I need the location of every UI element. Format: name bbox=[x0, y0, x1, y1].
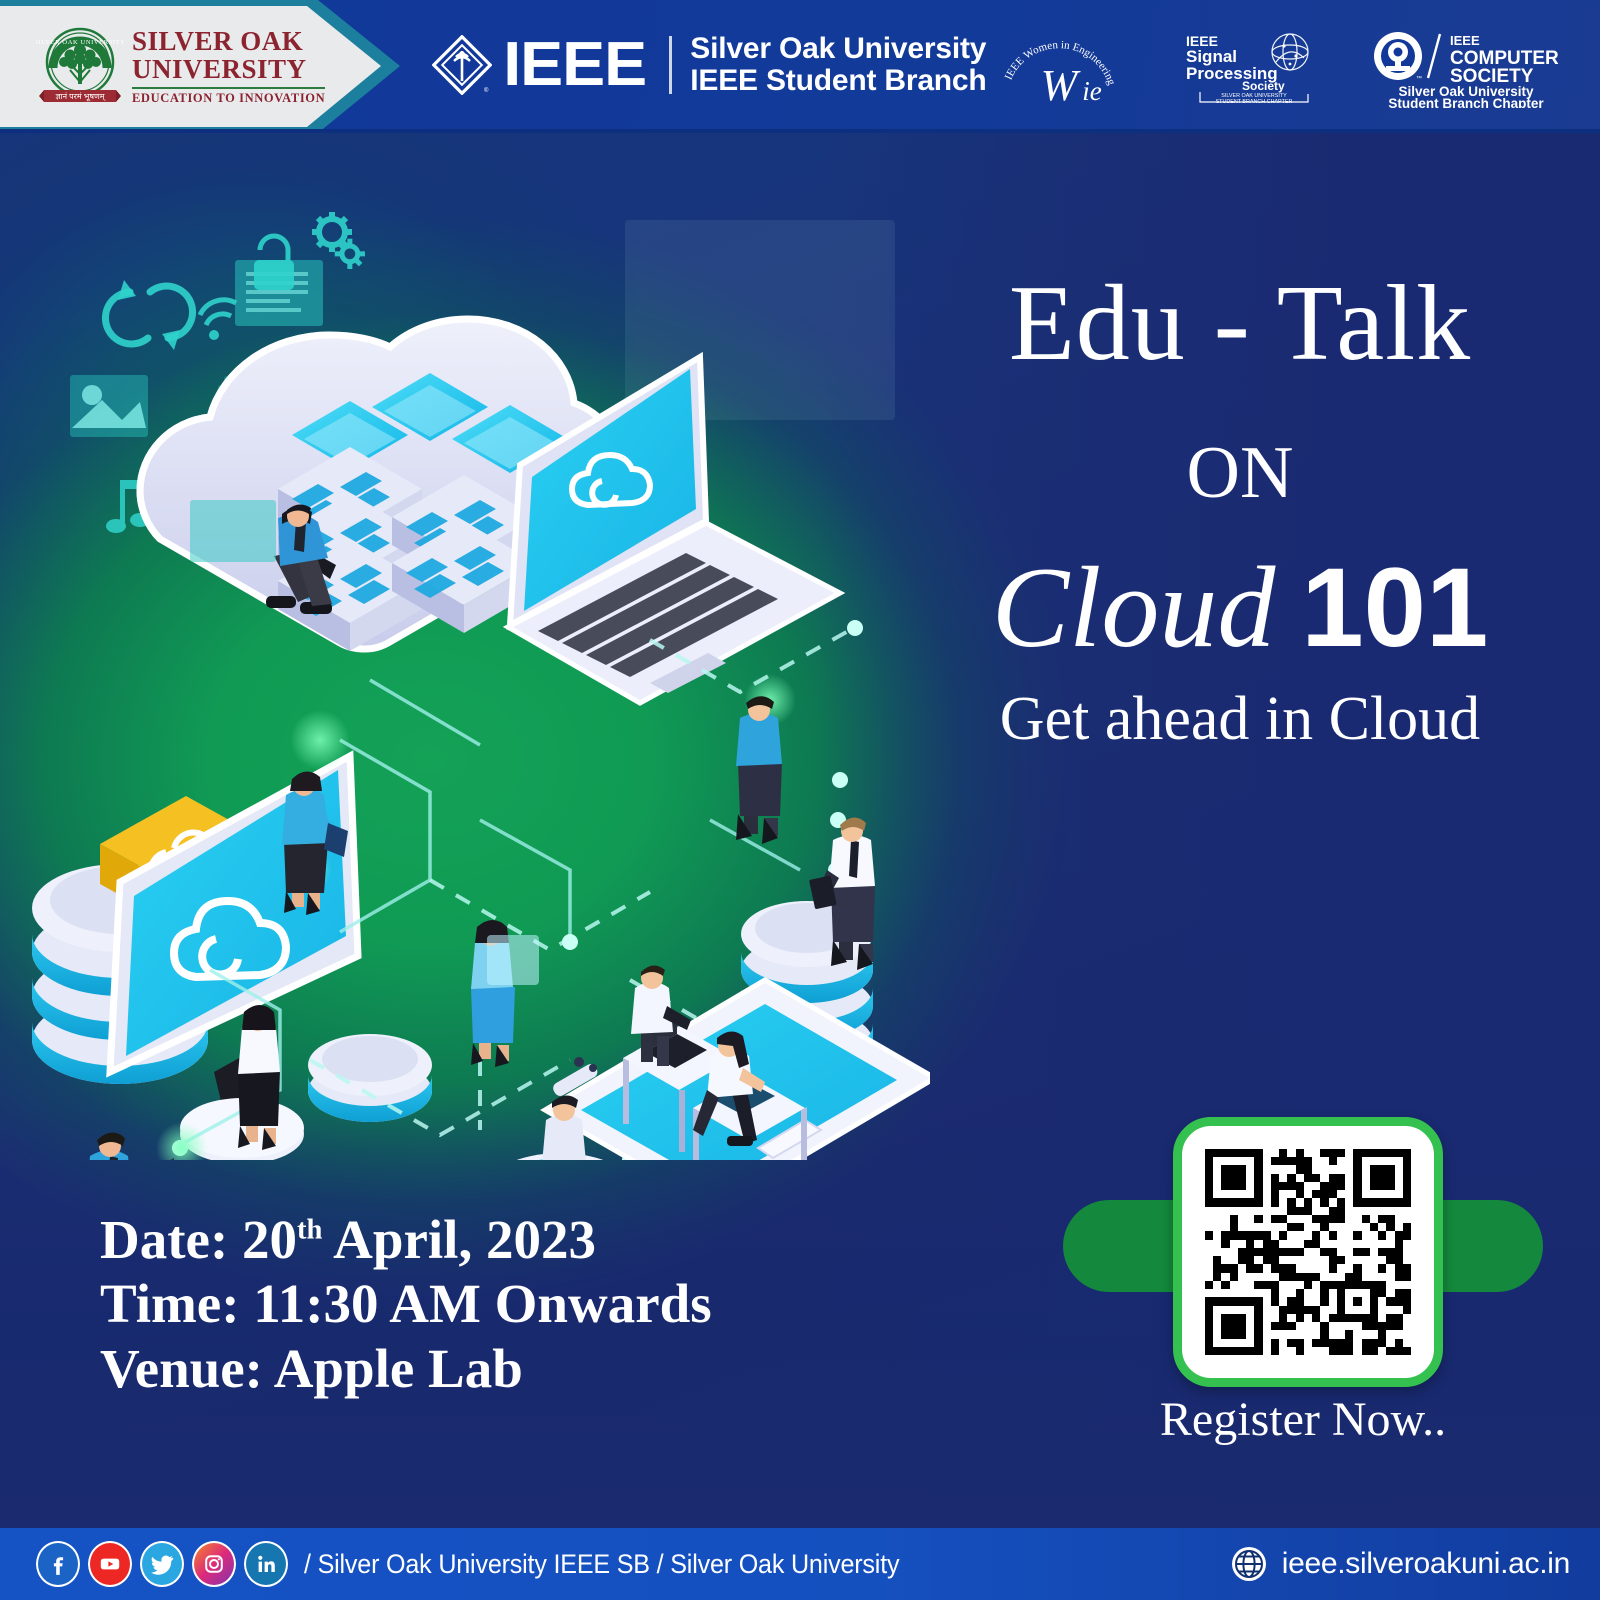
cloud-computing-isometric-illustration bbox=[10, 180, 930, 1160]
svg-text:®: ® bbox=[484, 87, 489, 94]
registration-qr-code[interactable] bbox=[1173, 1117, 1443, 1387]
social-handles: / Silver Oak University IEEE SB / Silver… bbox=[304, 1549, 899, 1580]
poster-header: SILVER OAK UNIVERSITY ज्ञानं परमं भूषणम् bbox=[0, 0, 1600, 133]
header-bottom-rule bbox=[0, 129, 1600, 133]
event-time: Time: 11:30 AM Onwards bbox=[100, 1272, 860, 1336]
university-name-line2: UNIVERSITY bbox=[132, 56, 325, 83]
facebook-icon[interactable] bbox=[36, 1541, 80, 1587]
wie-monogram: W bbox=[1041, 61, 1081, 108]
youtube-icon[interactable] bbox=[88, 1541, 132, 1587]
event-title-block: Edu - Talk ON Cloud 101 Get ahead in Clo… bbox=[910, 270, 1570, 750]
ieee-computer-society-logo: ™ IEEE COMPUTER SOCIETY Silver Oak Unive… bbox=[1366, 28, 1566, 108]
silver-oak-tree-emblem-icon: SILVER OAK UNIVERSITY ज्ञानं परमं भूषणम् bbox=[36, 24, 124, 108]
svg-text:™: ™ bbox=[1416, 75, 1422, 82]
svg-text:ie: ie bbox=[1082, 76, 1102, 106]
instagram-icon[interactable] bbox=[192, 1541, 236, 1587]
date-rest: April, 2023 bbox=[333, 1209, 596, 1270]
poster-footer: / Silver Oak University IEEE SB / Silver… bbox=[0, 1528, 1600, 1600]
ieee-women-in-engineering-logo: IEEE Women in Engineering W ie bbox=[1000, 28, 1118, 108]
register-now-label: Register Now.. bbox=[1063, 1392, 1543, 1447]
website-url: ieee.silveroakuni.ac.in bbox=[1282, 1547, 1570, 1581]
ieee-diamond-icon: ® bbox=[432, 35, 492, 95]
ieee-signal-processing-society-logo: IEEE Signal Processing Society SILVER OA… bbox=[1180, 30, 1320, 106]
cs-line1: IEEE bbox=[1450, 33, 1480, 48]
website-block[interactable]: ieee.silveroakuni.ac.in bbox=[1230, 1545, 1570, 1583]
branch-line2: IEEE Student Branch bbox=[690, 65, 986, 97]
cs-chapter-line2: Student Branch Chapter bbox=[1388, 96, 1544, 108]
university-name-line1: SILVER OAK bbox=[132, 28, 325, 55]
social-links bbox=[36, 1541, 288, 1587]
event-poster: SILVER OAK UNIVERSITY ज्ञानं परमं भूषणम् bbox=[0, 0, 1600, 1600]
header-divider bbox=[669, 36, 672, 94]
ieee-student-branch-logo: ® IEEE Silver Oak University IEEE Studen… bbox=[432, 33, 987, 98]
logo-divider bbox=[132, 87, 325, 89]
event-topic-number: 101 bbox=[1301, 553, 1488, 663]
branch-line1: Silver Oak University bbox=[690, 33, 986, 65]
silver-oak-university-logo: SILVER OAK UNIVERSITY ज्ञानं परमं भूषणम् bbox=[36, 24, 325, 108]
date-day: 20 bbox=[242, 1209, 297, 1270]
date-label: Date: bbox=[100, 1209, 228, 1270]
date-ordinal: th bbox=[297, 1215, 322, 1246]
event-tagline: Get ahead in Cloud bbox=[910, 688, 1570, 750]
event-date-row: Date: 20th April, 2023 bbox=[100, 1208, 860, 1272]
event-name: Edu - Talk bbox=[910, 270, 1570, 378]
svg-text:ज्ञानं परमं भूषणम्: ज्ञानं परमं भूषणम् bbox=[55, 92, 106, 102]
linkedin-icon[interactable] bbox=[244, 1541, 288, 1587]
event-details: Date: 20th April, 2023 Time: 11:30 AM On… bbox=[100, 1208, 860, 1401]
ieee-wordmark: IEEE bbox=[503, 40, 646, 91]
university-tagline: EDUCATION TO INNOVATION bbox=[132, 92, 325, 105]
twitter-icon[interactable] bbox=[140, 1541, 184, 1587]
event-venue: Venue: Apple Lab bbox=[100, 1337, 860, 1401]
qr-code-matrix bbox=[1205, 1149, 1411, 1355]
globe-icon bbox=[1230, 1545, 1268, 1583]
event-on-label: ON bbox=[910, 436, 1570, 510]
event-topic: Cloud bbox=[992, 552, 1276, 666]
sps-chapter-line2: STUDENT BRANCH CHAPTER bbox=[1216, 99, 1293, 105]
sps-line4: Society bbox=[1242, 79, 1285, 93]
